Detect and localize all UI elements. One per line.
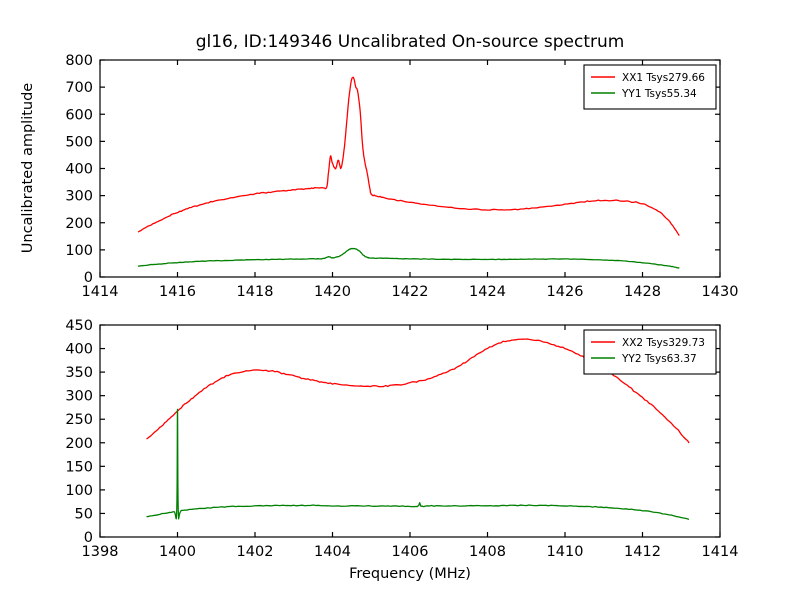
x-tick-label: 1400 [159, 544, 196, 560]
y-tick-label: 300 [65, 389, 93, 405]
y-tick-label: 350 [65, 365, 93, 381]
legend-label[interactable]: XX1 Tsys279.66 [622, 72, 705, 84]
upper-y-axis-label: Uncalibrated amplitude [20, 83, 36, 254]
y-tick-label: 100 [65, 243, 93, 259]
x-tick-label: 1418 [237, 284, 274, 300]
y-tick-label: 450 [65, 318, 93, 334]
y-tick-label: 600 [65, 107, 93, 123]
x-tick-label: 1406 [392, 544, 429, 560]
y-tick-label: 400 [65, 162, 93, 178]
y-tick-label: 300 [65, 189, 93, 205]
y-tick-label: 50 [75, 506, 93, 522]
y-tick-label: 250 [65, 412, 93, 428]
x-tick-label: 1412 [624, 544, 661, 560]
x-tick-label: 1420 [314, 284, 351, 300]
lower-x-axis-label: Frequency (MHz) [349, 566, 471, 582]
y-tick-label: 0 [84, 270, 93, 286]
x-tick-label: 1414 [702, 544, 739, 560]
spectrum-figure: gl16, ID:149346 Uncalibrated On-source s… [0, 0, 800, 600]
y-tick-label: 800 [65, 53, 93, 69]
x-tick-label: 1404 [314, 544, 351, 560]
y-tick-label: 700 [65, 80, 93, 96]
legend-label[interactable]: YY1 Tsys55.34 [621, 88, 697, 100]
upper-legend[interactable]: XX1 Tsys279.66YY1 Tsys55.34 [584, 65, 716, 109]
x-tick-label: 1422 [392, 284, 429, 300]
x-tick-label: 1414 [82, 284, 119, 300]
x-tick-label: 1424 [469, 284, 506, 300]
y-tick-label: 200 [65, 436, 93, 452]
legend-label[interactable]: YY2 Tsys63.37 [621, 353, 697, 365]
lower-legend[interactable]: XX2 Tsys329.73YY2 Tsys63.37 [584, 330, 716, 374]
legend-label[interactable]: XX2 Tsys329.73 [622, 337, 705, 349]
y-tick-label: 500 [65, 134, 93, 150]
x-tick-label: 1408 [469, 544, 506, 560]
x-tick-label: 1416 [159, 284, 196, 300]
y-tick-label: 150 [65, 459, 93, 475]
y-tick-label: 0 [84, 530, 93, 546]
x-tick-label: 1398 [82, 544, 119, 560]
y-tick-label: 200 [65, 216, 93, 232]
x-tick-label: 1426 [547, 284, 584, 300]
x-tick-label: 1410 [547, 544, 584, 560]
x-tick-label: 1428 [624, 284, 661, 300]
y-tick-label: 400 [65, 342, 93, 358]
y-tick-label: 100 [65, 483, 93, 499]
figure-canvas: gl16, ID:149346 Uncalibrated On-source s… [0, 0, 800, 600]
x-tick-label: 1402 [237, 544, 274, 560]
figure-title: gl16, ID:149346 Uncalibrated On-source s… [196, 32, 625, 52]
x-tick-label: 1430 [702, 284, 739, 300]
